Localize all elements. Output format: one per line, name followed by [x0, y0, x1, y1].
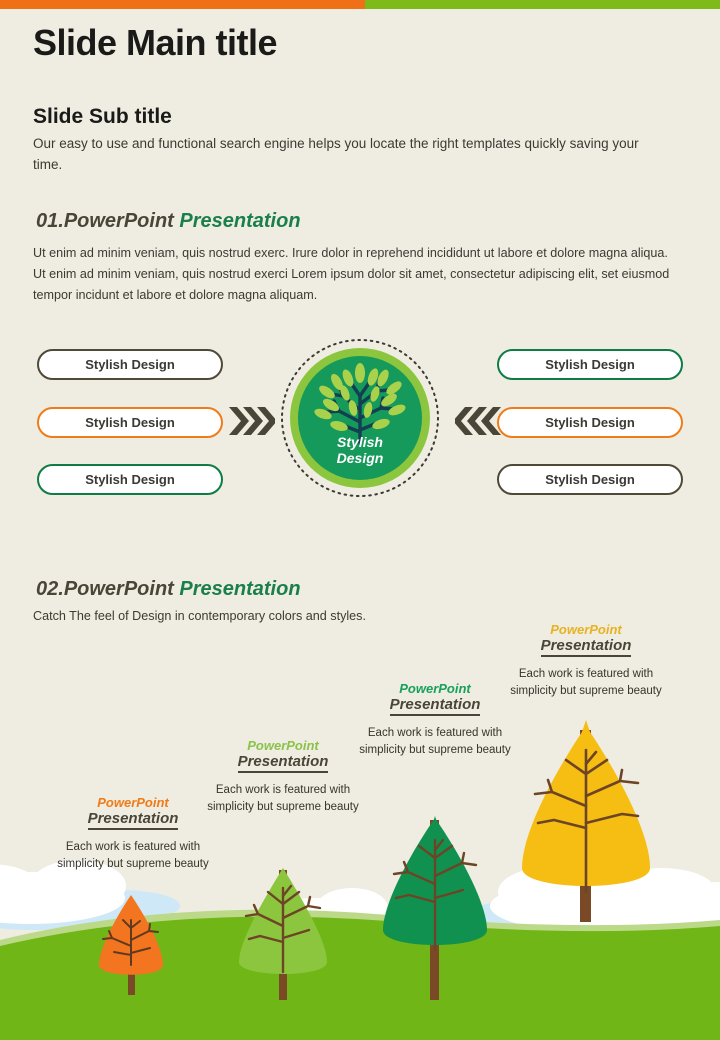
- top-bar-orange-segment: [0, 0, 365, 9]
- pill-right-3[interactable]: Stylish Design: [497, 464, 683, 495]
- section-two-number: 02.: [36, 578, 64, 600]
- pill-right-1[interactable]: Stylish Design: [497, 349, 683, 380]
- tree-label-4-powerpoint: PowerPoint: [501, 622, 671, 637]
- center-emblem[interactable]: Stylish Design: [265, 338, 455, 498]
- tree-label-3-desc: Each work is featured with simplicity bu…: [350, 725, 520, 758]
- tree-label-2: PowerPoint Presentation Each work is fea…: [198, 738, 368, 815]
- section-one-heading: 01.PowerPoint Presentation: [36, 210, 301, 233]
- section-one-heading-dark: PowerPoint: [64, 210, 174, 232]
- section-one-body: Ut enim ad minim veniam, quis nostrud ex…: [33, 243, 673, 305]
- page-title: Slide Main title: [33, 22, 277, 64]
- tree-label-4: PowerPoint Presentation Each work is fea…: [501, 622, 671, 699]
- pill-left-1[interactable]: Stylish Design: [37, 349, 223, 380]
- tree-label-3-powerpoint: PowerPoint: [350, 681, 520, 696]
- chevrons-left-icon: [455, 404, 501, 438]
- tree-label-1-desc: Each work is featured with simplicity bu…: [48, 839, 218, 872]
- slide-canvas: Slide Main title Slide Sub title Our eas…: [0, 0, 720, 1040]
- tree-label-2-desc: Each work is featured with simplicity bu…: [198, 782, 368, 815]
- tree-label-2-powerpoint: PowerPoint: [198, 738, 368, 753]
- top-bar-green-segment: [365, 0, 720, 9]
- section-two-heading-green: Presentation: [179, 578, 300, 600]
- tree-label-3-presentation: Presentation: [390, 696, 481, 716]
- section-one-number: 01.: [36, 210, 64, 232]
- tree-label-1-powerpoint: PowerPoint: [48, 795, 218, 810]
- top-color-bar: [0, 0, 720, 9]
- tree-label-1-presentation: Presentation: [88, 810, 179, 830]
- pill-right-2[interactable]: Stylish Design: [497, 407, 683, 438]
- section-two-heading: 02.PowerPoint Presentation: [36, 578, 301, 601]
- center-emblem-graphic: [265, 338, 455, 498]
- pill-left-3[interactable]: Stylish Design: [37, 464, 223, 495]
- pill-left-1-label: Stylish Design: [85, 357, 175, 372]
- tree-label-1: PowerPoint Presentation Each work is fea…: [48, 795, 218, 872]
- tree-label-2-presentation: Presentation: [238, 753, 329, 773]
- pill-right-2-label: Stylish Design: [545, 415, 635, 430]
- page-subtitle: Slide Sub title: [33, 105, 172, 129]
- section-two-heading-dark: PowerPoint: [64, 578, 174, 600]
- tree-label-4-presentation: Presentation: [541, 637, 632, 657]
- tree-label-4-desc: Each work is featured with simplicity bu…: [501, 666, 671, 699]
- tree-label-3: PowerPoint Presentation Each work is fea…: [350, 681, 520, 758]
- pill-left-2[interactable]: Stylish Design: [37, 407, 223, 438]
- page-subtitle-description: Our easy to use and functional search en…: [33, 134, 663, 176]
- pill-left-3-label: Stylish Design: [85, 472, 175, 487]
- section-one-heading-green: Presentation: [179, 210, 300, 232]
- pill-left-2-label: Stylish Design: [85, 415, 175, 430]
- pill-right-3-label: Stylish Design: [545, 472, 635, 487]
- pill-right-1-label: Stylish Design: [545, 357, 635, 372]
